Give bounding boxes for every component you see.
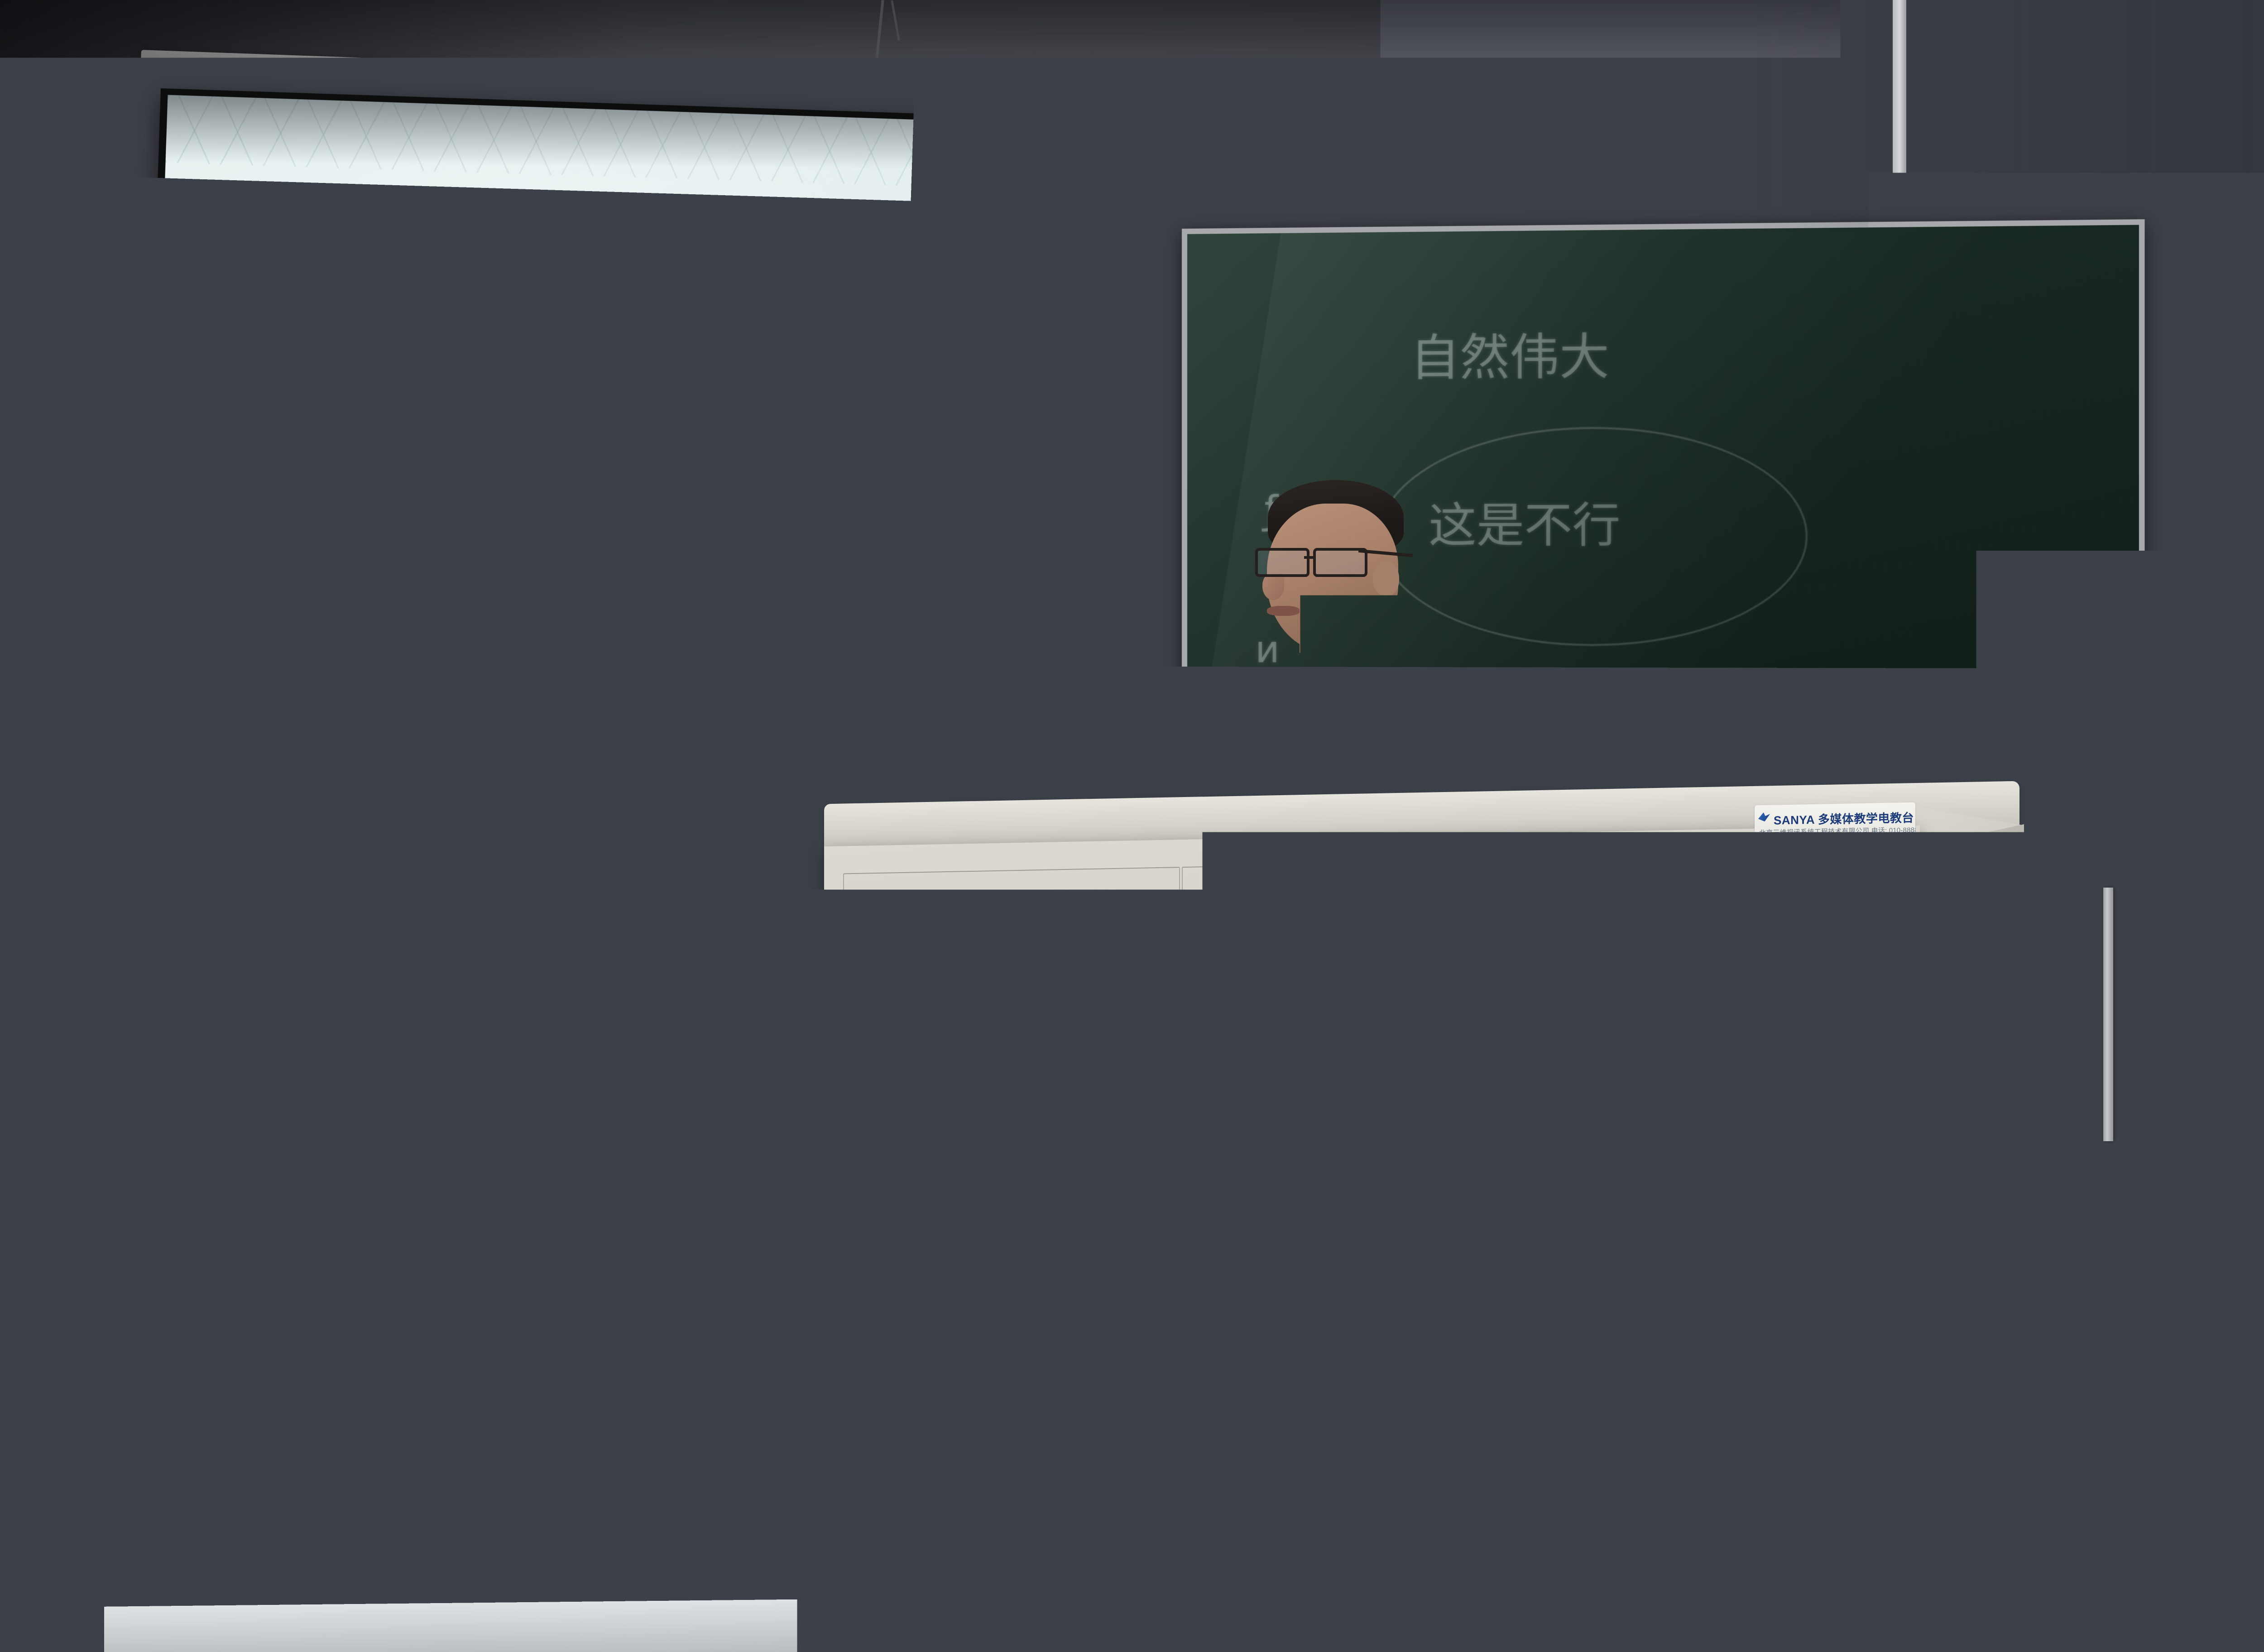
desk-left-panel bbox=[0, 1346, 25, 1652]
microphone-holder[interactable] bbox=[1936, 928, 1970, 1014]
slide-bullet-text: 1994年起，J.P. Morgan就针对这一要求提出VaR的概念以及风险度量系… bbox=[233, 557, 633, 664]
lecturer-nose bbox=[1262, 573, 1284, 600]
ceiling-strip bbox=[1893, 0, 1906, 254]
glasses-icon bbox=[1255, 548, 1368, 573]
portrait-caption-secondary: J.P. bbox=[653, 694, 691, 723]
cabinet-door[interactable] bbox=[843, 867, 1180, 1414]
bullet-diamond-icon bbox=[213, 299, 230, 316]
desk-foreground[interactable] bbox=[1648, 1481, 2264, 1652]
multimedia-console-cabinet[interactable]: SANYA 多媒体教学电教台 北京三维视讯系统工程技术有限公司 电话: 010-… bbox=[824, 792, 2019, 1485]
cabinet-brand-label: SANYA 多媒体教学电教台 北京三维视讯系统工程技术有限公司 电话: 010-… bbox=[1755, 802, 1915, 845]
slide-bullet-item: 风险价值度之所以在今天被得到广泛采用应归功于J. P.摩根。Dennis Wea… bbox=[201, 291, 653, 543]
slide-bullet-text: 风险价值度之所以在今天被得到广泛采用应归功于J. P.摩根。Dennis Wea… bbox=[237, 293, 642, 540]
lecturer bbox=[1214, 480, 1503, 824]
cabinet-door[interactable] bbox=[1521, 853, 1903, 1401]
slide-bullet-item: 1994年起，J.P. Morgan就针对这一要求提出VaR的概念以及风险度量系… bbox=[197, 555, 645, 666]
screen-brand-label: Redleaf bbox=[1106, 99, 1164, 118]
slide-portrait-photo bbox=[681, 310, 950, 635]
brand-dot-icon bbox=[1089, 105, 1098, 113]
handset-cord bbox=[1947, 1013, 1964, 1043]
power-socket[interactable] bbox=[489, 1132, 533, 1174]
slide-bullet-list: 风险价值度之所以在今天被得到广泛采用应归功于J. P.摩根。Dennis Wea… bbox=[196, 291, 653, 687]
wall-outlet-panel[interactable] bbox=[468, 1110, 658, 1194]
chalk-note-1: 自然伟大 bbox=[1410, 317, 1609, 389]
cabinet-body bbox=[824, 826, 1920, 1444]
chair-with-coat[interactable] bbox=[2255, 1082, 2264, 1445]
classroom-photo: 自然伟大 这是不行 ƒ ᴎ Redleaf 风险度量(一)：风险价值VaR bbox=[0, 0, 2264, 1652]
desk-left[interactable] bbox=[0, 1325, 104, 1652]
lecturer-mouth bbox=[1267, 606, 1300, 616]
cabinet-lock-icon[interactable] bbox=[1533, 1132, 1557, 1157]
sanya-logo-icon bbox=[1758, 812, 1770, 821]
cabinet-door[interactable] bbox=[1182, 860, 1519, 1407]
slide-title: 风险度量(一)：风险价值VaR bbox=[241, 190, 903, 282]
cabinet-lock-icon[interactable] bbox=[1134, 1140, 1158, 1165]
cabinet-side-panel bbox=[1911, 824, 2024, 1445]
power-socket[interactable] bbox=[583, 1133, 627, 1176]
lecturer-ear bbox=[1373, 561, 1399, 596]
draped-coat bbox=[2261, 1083, 2264, 1308]
bullet-diamond-icon bbox=[204, 562, 221, 579]
portrait-caption: Dennis Weatherstone bbox=[654, 649, 928, 682]
desk-left-leg bbox=[23, 1345, 34, 1652]
